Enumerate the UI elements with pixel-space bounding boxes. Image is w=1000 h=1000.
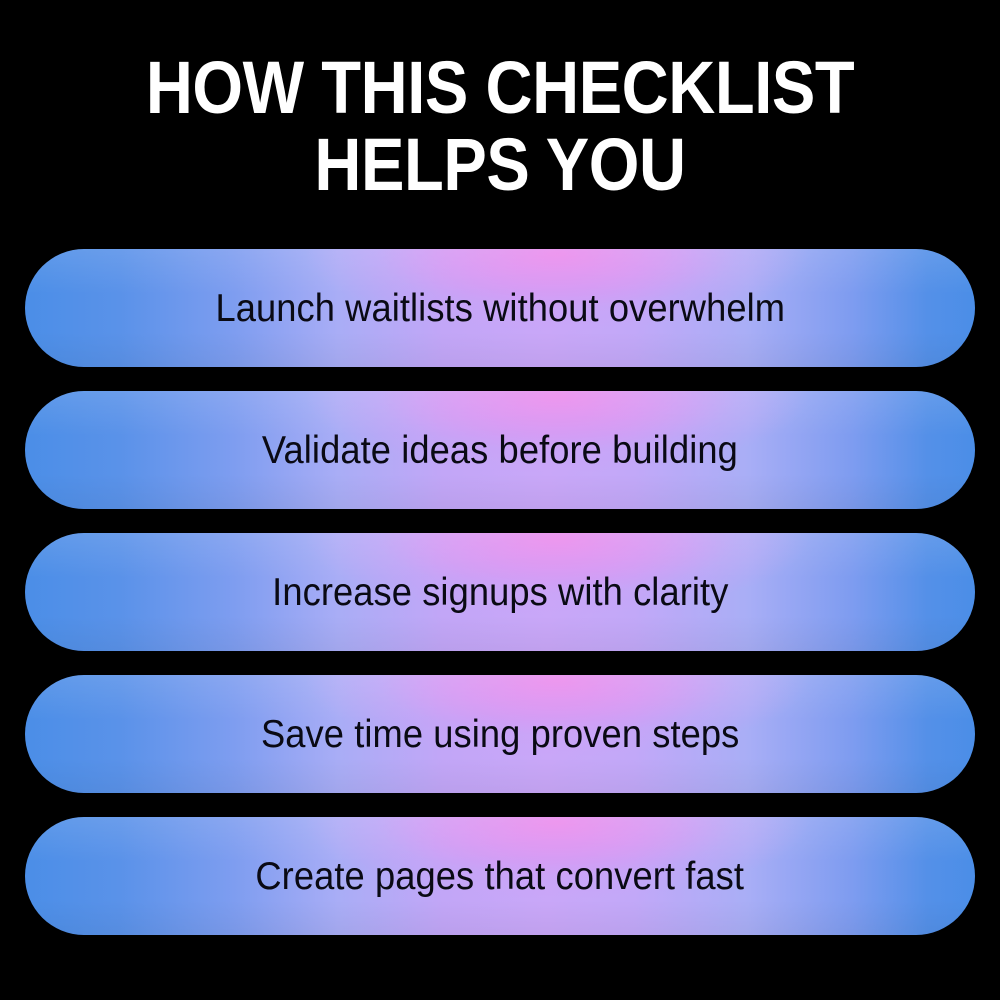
checklist-item-label: Launch waitlists without overwhelm	[215, 289, 785, 328]
checklist-item-1[interactable]: Launch waitlists without overwhelm	[25, 249, 975, 367]
checklist-item-4[interactable]: Save time using proven steps	[25, 675, 975, 793]
checklist-item-label: Increase signups with clarity	[272, 573, 728, 612]
checklist-item-5[interactable]: Create pages that convert fast	[25, 817, 975, 935]
page-title-line-1: HOW THIS CHECKLIST	[60, 52, 940, 125]
checklist-item-3[interactable]: Increase signups with clarity	[25, 533, 975, 651]
checklist-item-label: Create pages that convert fast	[256, 857, 745, 896]
page-title: HOW THIS CHECKLIST HELPS YOU	[0, 0, 1000, 201]
slide-canvas: HOW THIS CHECKLIST HELPS YOU Launch wait…	[0, 0, 1000, 1000]
checklist-item-label: Validate ideas before building	[262, 431, 738, 470]
checklist-pill-list: Launch waitlists without overwhelm Valid…	[0, 249, 1000, 935]
checklist-item-label: Save time using proven steps	[261, 715, 739, 754]
checklist-item-2[interactable]: Validate ideas before building	[25, 391, 975, 509]
page-title-line-2: HELPS YOU	[60, 129, 940, 202]
